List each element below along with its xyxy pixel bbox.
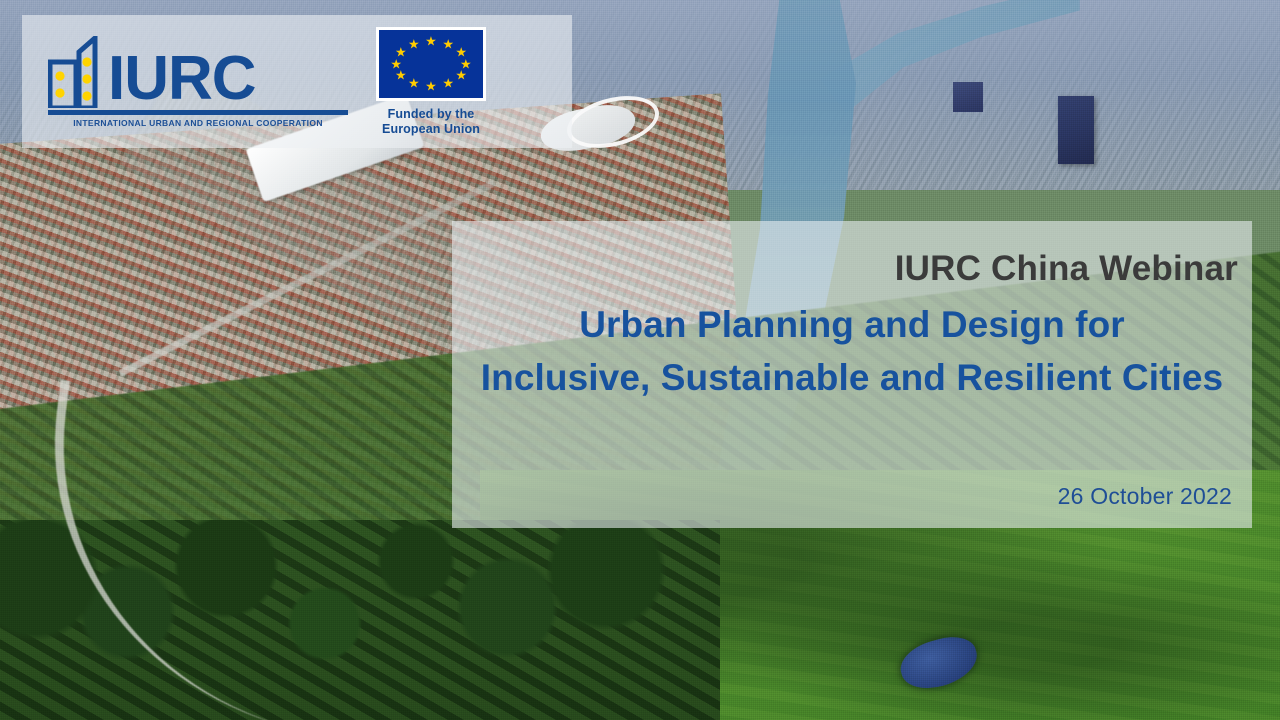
iurc-tagline: INTERNATIONAL URBAN AND REGIONAL COOPERA… [48,118,348,128]
slide-title: Urban Planning and Design for Inclusive,… [466,299,1238,404]
eu-funding-logo: ★ ★ ★ ★ ★ ★ ★ ★ ★ ★ ★ ★ Funded by the Eu… [376,27,486,137]
presentation-slide: IURC INTERNATIONAL URBAN AND REGIONAL CO… [0,0,1280,720]
iurc-wordmark: IURC [108,50,256,107]
european-union-flag-icon: ★ ★ ★ ★ ★ ★ ★ ★ ★ ★ ★ ★ [376,27,486,101]
webinar-series-label: IURC China Webinar [466,249,1238,289]
event-date: 26 October 2022 [466,483,1238,528]
iurc-buildings-icon [48,36,110,108]
header-logo-bar: IURC INTERNATIONAL URBAN AND REGIONAL CO… [22,15,572,148]
iurc-logo: IURC INTERNATIONAL URBAN AND REGIONAL CO… [48,36,348,128]
slide-title-line-1: Urban Planning and Design for [579,304,1125,345]
eu-caption-line-2: European Union [376,122,486,137]
title-panel: IURC China Webinar Urban Planning and De… [452,221,1252,528]
eu-funding-caption: Funded by the European Union [376,107,486,137]
slide-title-line-2: Inclusive, Sustainable and Resilient Cit… [466,352,1238,405]
eu-caption-line-1: Funded by the [376,107,486,122]
